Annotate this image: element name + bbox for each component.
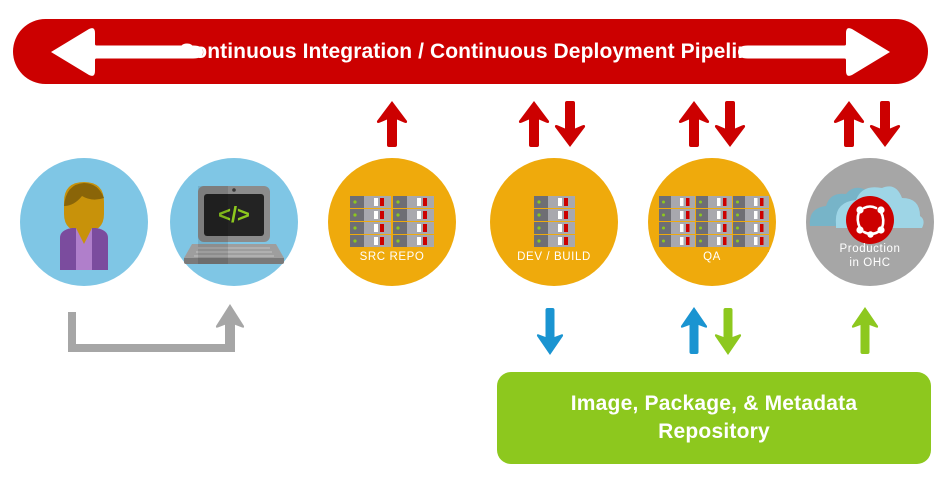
server-rack-icon: [328, 158, 456, 286]
node-dev-build[interactable]: DEV / BUILD: [490, 158, 618, 286]
person-icon: [20, 158, 148, 286]
arrow-up-icon-qa: [678, 100, 710, 148]
arrow-down-icon-production: [869, 100, 901, 148]
repository-label-line2: Repository: [571, 418, 858, 446]
elbow-connector-icon: [60, 302, 250, 364]
arrow-down-icon-qa: [714, 100, 746, 148]
arrow-up-icon-production-from-repo: [851, 306, 879, 356]
laptop-code-icon: </>: [170, 158, 298, 286]
repository-label: Image, Package, & Metadata Repository: [571, 390, 858, 446]
arrow-up-icon-production: [833, 100, 865, 148]
arrow-down-icon-dev-build-to-repo: [536, 306, 564, 356]
node-qa[interactable]: QA: [648, 158, 776, 286]
arrow-up-icon-qa-from-repo: [680, 306, 708, 356]
node-label-src-repo: SRC REPO: [328, 250, 456, 264]
node-src-repo[interactable]: SRC REPO: [328, 158, 456, 286]
arrow-up-icon-src-repo: [376, 100, 408, 148]
cicd-pipeline-diagram: Continuous Integration / Continuous Depl…: [0, 0, 941, 500]
node-workstation[interactable]: </>: [170, 158, 298, 286]
arrow-down-icon-qa-to-repo: [714, 306, 742, 356]
arrow-up-icon-dev-build: [518, 100, 550, 148]
arrow-right-icon: [736, 27, 896, 77]
node-label-production-line1: Production: [806, 242, 934, 256]
repository-label-line1: Image, Package, & Metadata: [571, 390, 858, 418]
node-label-dev-build: DEV / BUILD: [490, 250, 618, 264]
node-label-production-line2: in OHC: [806, 256, 934, 270]
node-developer[interactable]: [20, 158, 148, 286]
repository-box[interactable]: Image, Package, & Metadata Repository: [497, 372, 931, 464]
node-label-qa: QA: [648, 250, 776, 264]
node-production[interactable]: Production in OHC: [806, 158, 934, 286]
server-rack-icon: [648, 158, 776, 286]
pipeline-banner: Continuous Integration / Continuous Depl…: [13, 19, 928, 84]
arrow-down-icon-dev-build: [554, 100, 586, 148]
server-rack-icon: [490, 158, 618, 286]
